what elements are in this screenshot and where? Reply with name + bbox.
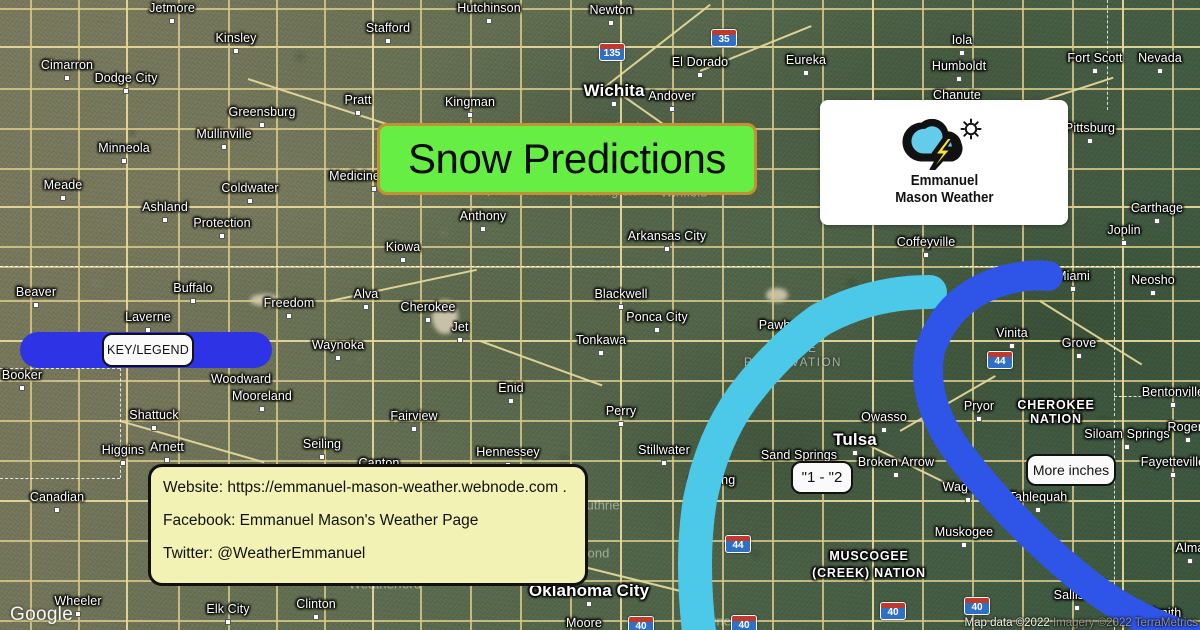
city-dot (225, 619, 231, 625)
city-label: Meade (44, 178, 83, 192)
road-horizontal (0, 420, 1200, 422)
city-label: Minneola (98, 141, 150, 155)
city-label: Kiowa (386, 240, 421, 254)
city-label: Coffeyville (897, 235, 956, 249)
city-label: Tahlequah (1009, 490, 1068, 504)
city-label: Blackwell (595, 287, 648, 301)
city-label: Cimarron (41, 58, 93, 72)
city-dot (120, 460, 126, 466)
city-dot (1154, 218, 1160, 224)
city-dot (64, 75, 70, 81)
highway-shield: 40 (628, 616, 654, 630)
city-dot (1124, 444, 1130, 450)
region-label: NATION (1030, 412, 1082, 426)
city-dot (709, 490, 715, 496)
city-label: Tonkawa (576, 333, 626, 347)
city-label: Bentonville (1142, 385, 1200, 399)
brand-name: Emmanuel Mason Weather (895, 173, 993, 206)
city-label: Tulsa (833, 430, 877, 450)
region-label: (CREEK) NATION (812, 566, 926, 580)
region-label: OSAGE (769, 343, 818, 355)
city-label: Laverne (125, 310, 171, 324)
city-label: El Dorado (672, 55, 729, 69)
city-label: Kingman (445, 95, 495, 109)
city-label: Miami (1056, 269, 1090, 283)
city-label: Protection (193, 216, 250, 230)
highway-shield: 44 (987, 351, 1013, 369)
city-dot (75, 611, 81, 617)
city-dot (335, 355, 341, 361)
city-dot (1009, 343, 1015, 349)
city-dot (956, 76, 962, 82)
city-label: Humboldt (932, 59, 986, 73)
road-vertical (872, 0, 874, 630)
city-label: Arkansas City (628, 229, 706, 243)
attribution-map-data: Map data ©2022 (965, 617, 1050, 629)
highway-shield: 35 (711, 29, 737, 47)
road-vertical (30, 0, 32, 630)
highway-number: 135 (604, 46, 621, 59)
city-label: Moore (566, 616, 602, 630)
city-dot (1187, 558, 1193, 564)
city-label: Alma (1176, 541, 1200, 555)
city-dot (123, 88, 129, 94)
city-dot (385, 38, 391, 44)
city-label: Rogers (1168, 420, 1200, 434)
highway-number: 40 (971, 600, 982, 613)
city-dot (54, 507, 60, 513)
state-boundary-ok-ar (1114, 266, 1115, 416)
city-dot (247, 198, 253, 204)
city-label: Neosho (1131, 273, 1175, 287)
city-label: Booker (2, 368, 42, 382)
cloud-lightning-sun-icon (901, 118, 987, 170)
city-dot (618, 421, 624, 427)
city-label: Hennessey (476, 445, 539, 459)
city-label: Woodward (211, 372, 271, 386)
city-label: Buffalo (173, 281, 212, 295)
city-dot (486, 18, 492, 24)
city-dot (457, 337, 463, 343)
city-dot (881, 427, 887, 433)
brand-name-line1: Emmanuel (895, 173, 993, 190)
city-label: Broken Arrow (858, 455, 934, 469)
highway-shield: 40 (731, 615, 757, 630)
city-label: Stafford (366, 21, 410, 35)
page-title: Snow Predictions (408, 135, 726, 183)
highway-number: 40 (738, 618, 749, 630)
city-label: Clinton (296, 597, 336, 611)
city-dot (508, 398, 514, 404)
city-label: Pittsburg (1065, 121, 1115, 135)
city-label: Canadian (30, 490, 84, 504)
city-dot (259, 122, 265, 128)
city-label: Mooreland (232, 389, 292, 403)
road-vertical (1172, 0, 1174, 630)
brand-name-line2: Mason Weather (895, 190, 993, 207)
city-label: Dodge City (95, 71, 158, 85)
attribution-imagery: Imagery ©2022 TerraMetrics (1053, 617, 1198, 629)
city-dot (608, 20, 614, 26)
city-label: Newton (590, 3, 633, 17)
city-dot (151, 425, 157, 431)
city-dot (162, 217, 168, 223)
city-label: Higgins (102, 443, 144, 457)
brand-logo-card: Emmanuel Mason Weather (820, 100, 1068, 225)
city-label: Fairview (390, 409, 437, 423)
city-dot (664, 246, 670, 252)
city-dot (598, 350, 604, 356)
city-dot (467, 112, 473, 118)
road-vertical (772, 0, 774, 630)
city-dot (480, 226, 486, 232)
city-label: Perry (606, 404, 636, 418)
state-boundary-ok-tx-s (0, 478, 120, 479)
city-label: Seiling (303, 437, 341, 451)
city-dot (893, 472, 899, 478)
city-dot (1076, 353, 1082, 359)
road-horizontal (0, 246, 1200, 248)
city-dot (1185, 437, 1191, 443)
title-banner: Snow Predictions (377, 123, 757, 195)
contact-info-box: Website: https://emmanuel-mason-weather.… (148, 464, 588, 586)
city-dot (803, 70, 809, 76)
region-label: RESERVATION (744, 357, 842, 369)
city-dot (959, 50, 965, 56)
city-label: Mullinville (196, 127, 251, 141)
city-label: Alva (354, 287, 379, 301)
city-label: Muskogee (935, 525, 993, 539)
weather-map-graphic: JetmoreHutchinsonNewtonKinsleyStaffordIo… (0, 0, 1200, 630)
city-label: Wichita (584, 81, 645, 101)
city-dot (1035, 507, 1041, 513)
city-label: Coldwater (221, 181, 278, 195)
road-horizontal (0, 380, 1200, 382)
city-label: Wagoner (943, 480, 994, 494)
city-dot (221, 144, 227, 150)
city-dot (1157, 68, 1163, 74)
city-dot (164, 457, 170, 463)
city-label: Carthage (1131, 201, 1183, 215)
city-dot (219, 233, 225, 239)
city-label: Grove (1062, 336, 1097, 350)
city-dot (286, 313, 292, 319)
google-watermark: Google (10, 604, 73, 626)
road-vertical (78, 0, 80, 630)
region-label: CHEROKEE (1017, 398, 1094, 412)
contact-website: Website: https://emmanuel-mason-weather.… (163, 479, 573, 497)
city-dot (1092, 68, 1098, 74)
road-vertical (722, 0, 724, 630)
city-dot (363, 304, 369, 310)
city-label: Greensburg (228, 105, 295, 119)
city-dot (669, 106, 675, 112)
city-label: Fort Scott (1067, 51, 1122, 65)
city-dot (1087, 138, 1093, 144)
city-label: Kinsley (216, 31, 257, 45)
city-dot (371, 186, 377, 192)
city-label: Bartlesville (834, 300, 898, 315)
city-label: Cushing (689, 473, 736, 487)
city-label: Vinita (996, 326, 1028, 340)
city-label: Owasso (861, 410, 907, 424)
city-label: Joplin (1107, 223, 1140, 237)
city-label: Nevada (1138, 51, 1182, 65)
city-label: Arnett (150, 440, 184, 454)
city-dot (313, 614, 319, 620)
city-dot (965, 497, 971, 503)
city-dot (1170, 402, 1176, 408)
city-label: Siloam Springs (1084, 427, 1169, 441)
city-label: Freedom (264, 296, 315, 310)
city-dot (961, 542, 967, 548)
region-label: MUSCOGEE (829, 549, 908, 563)
city-dot (19, 385, 25, 391)
state-boundary-ks-ok (0, 266, 770, 267)
state-boundary-ok-ar-south (1114, 420, 1115, 630)
city-dot (355, 110, 361, 116)
highway-number: 40 (887, 605, 898, 618)
city-dot (169, 18, 175, 24)
city-dot (319, 454, 325, 460)
city-label: Anthony (460, 209, 507, 223)
map-attribution: Map data ©2022 Imagery ©2022 TerraMetric… (965, 617, 1198, 629)
city-dot (976, 416, 982, 422)
highway-shield: 44 (725, 535, 751, 553)
road-vertical (1072, 0, 1074, 630)
city-label: Elk City (206, 602, 249, 616)
city-label: Jetmore (149, 1, 195, 15)
road-vertical (1022, 0, 1024, 630)
city-dot (611, 101, 617, 107)
city-label: Pryor (964, 399, 994, 413)
city-dot (654, 327, 660, 333)
highway-number: 40 (635, 619, 646, 630)
city-dot (121, 158, 127, 164)
contact-facebook: Facebook: Emmanuel Mason's Weather Page (163, 512, 573, 530)
road-vertical (822, 0, 824, 630)
road-vertical (1122, 0, 1124, 630)
city-dot (259, 406, 265, 412)
state-boundary-ks-ok-east (960, 266, 1200, 267)
city-dot (1150, 290, 1156, 296)
highway-shield: 40 (964, 597, 990, 615)
city-label: Enid (498, 381, 523, 395)
city-dot (1074, 605, 1080, 611)
city-dot (1070, 286, 1076, 292)
city-dot (33, 302, 39, 308)
city-dot (60, 195, 66, 201)
city-label: Pratt (345, 93, 372, 107)
city-label: Fayetteville (1141, 455, 1200, 469)
city-label: Ashland (142, 200, 188, 214)
city-dot (233, 48, 239, 54)
city-dot (1170, 472, 1176, 478)
city-dot (190, 298, 196, 304)
key-legend-label[interactable]: KEY/LEGEND (102, 333, 194, 367)
city-label: Cherokee (401, 300, 456, 314)
city-dot (923, 252, 929, 258)
city-dot (411, 426, 417, 432)
highway-number: 35 (718, 32, 729, 45)
city-label: Hutchinson (457, 1, 521, 15)
city-dot (661, 460, 667, 466)
callout-heavy-band-amount[interactable]: More inches (1026, 454, 1116, 486)
city-dot (586, 601, 592, 607)
city-dot (1121, 240, 1127, 246)
callout-light-band-amount[interactable]: "1 - "2 (791, 461, 853, 494)
highway-shield: 40 (880, 602, 906, 620)
city-dot (425, 317, 431, 323)
city-label: Shattuck (129, 408, 178, 422)
road-vertical (922, 0, 924, 630)
city-label: Ponca City (626, 310, 687, 324)
highway-shield: 135 (599, 43, 625, 61)
road-horizontal (0, 460, 1200, 462)
city-dot (785, 335, 791, 341)
contact-twitter: Twitter: @WeatherEmmanuel (163, 545, 573, 563)
city-dot (400, 257, 406, 263)
city-label: Jet (452, 320, 469, 334)
city-label: Waynoka (312, 338, 364, 352)
city-label: Sallisaw (1054, 588, 1101, 602)
city-label: Pawhuska (759, 318, 817, 332)
city-dot (697, 72, 703, 78)
city-label: Andover (648, 89, 695, 103)
city-label: Stillwater (638, 443, 690, 457)
city-label: Eureka (786, 53, 826, 67)
city-label: Iola (952, 33, 973, 47)
highway-number: 44 (732, 538, 743, 551)
city-dot (618, 304, 624, 310)
highway-number: 44 (994, 354, 1005, 367)
city-label: Sand Springs (761, 448, 837, 462)
city-label: Beaver (16, 285, 56, 299)
